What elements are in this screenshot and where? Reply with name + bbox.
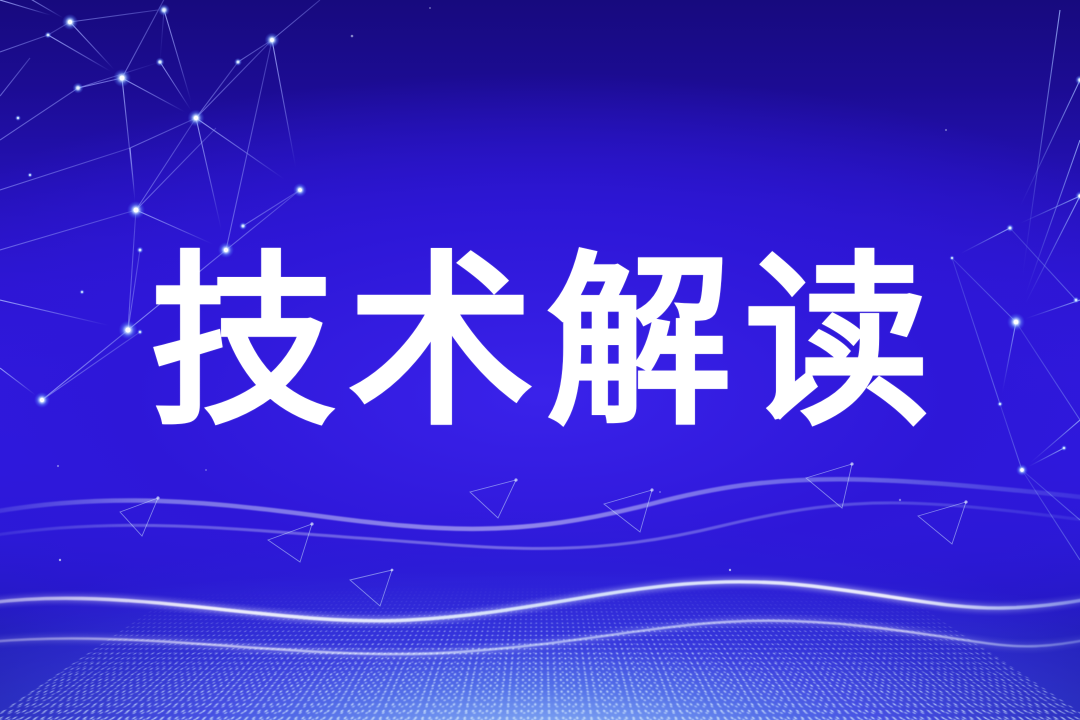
wave-crest-front <box>0 516 1080 686</box>
wave-crest-back <box>0 442 1080 592</box>
network-left-nodes <box>15 4 307 408</box>
network-right-lines <box>952 10 1080 560</box>
poster-title: 技术解读 <box>138 248 942 438</box>
network-right-nodes <box>949 75 1080 476</box>
star-specks <box>57 7 947 501</box>
particle-mesh-front <box>0 584 1080 720</box>
constellation-decoration <box>0 0 1080 720</box>
network-left-core <box>40 20 302 402</box>
wave-decoration <box>0 420 1080 720</box>
network-left-lines <box>0 0 320 400</box>
wave-plexus-accents <box>0 420 1080 720</box>
network-right-core <box>1014 195 1080 472</box>
title-container: 技术解读 <box>0 248 1080 438</box>
poster-canvas: 技术解读 蓝色科技风背景上的白色粗体标题：技术解读 <box>0 0 1080 720</box>
horizon-glow <box>0 485 1080 720</box>
poster-alt-text: 蓝色科技风背景上的白色粗体标题：技术解读 <box>0 0 1 1</box>
particle-mesh-back <box>0 618 1080 720</box>
